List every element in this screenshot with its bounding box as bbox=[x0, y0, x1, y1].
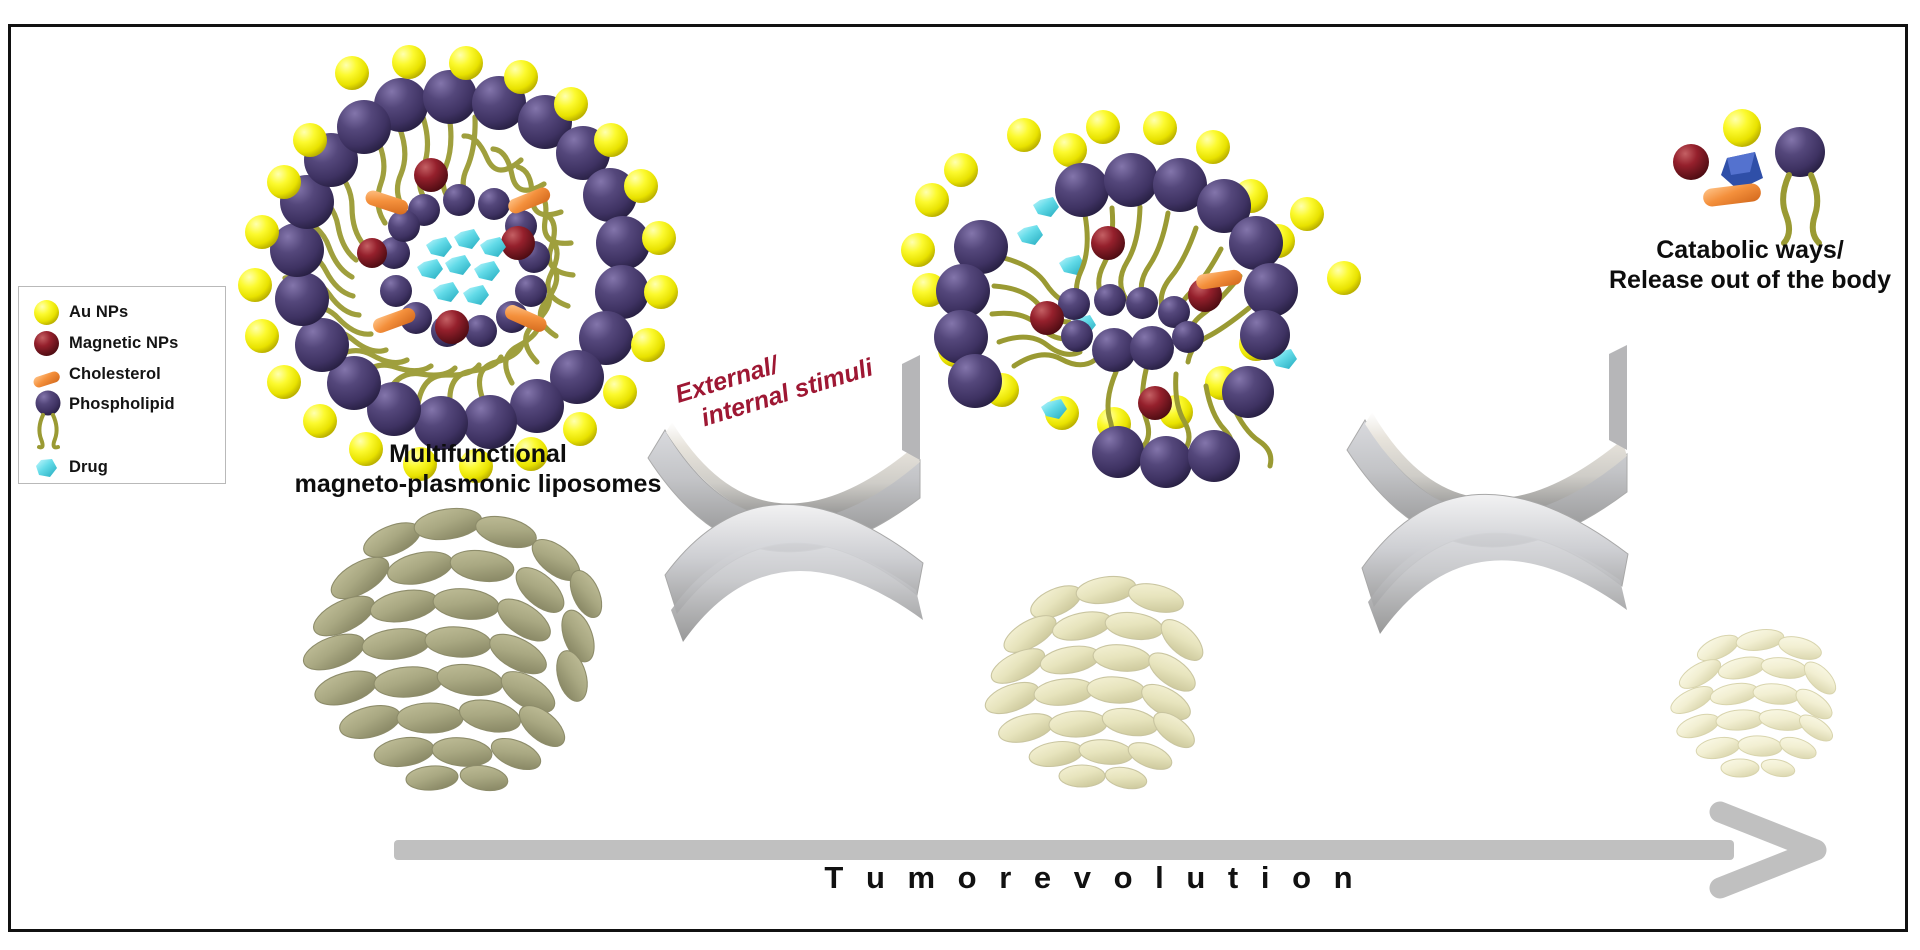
legend-item-phospholipid: Phospholipid bbox=[19, 390, 225, 452]
legend-item-drug: Drug bbox=[19, 452, 225, 482]
catabolic-caption: Catabolic ways/ Release out of the body bbox=[1560, 236, 1920, 295]
catabolic-caption-line2: Release out of the body bbox=[1560, 266, 1920, 296]
free-magnetic-np bbox=[1673, 144, 1709, 180]
legend-label-drug: Drug bbox=[69, 458, 108, 477]
free-gold-np bbox=[1723, 109, 1761, 147]
figure-root: Au NPs Magnetic NPs Cholesterol bbox=[0, 0, 1920, 950]
legend-item-magnetic-nps: Magnetic NPs bbox=[19, 328, 225, 359]
legend-item-au-nps: Au NPs bbox=[19, 297, 225, 328]
liposome-caption-line1: Multifunctional bbox=[248, 440, 708, 470]
magnetic-np bbox=[1030, 301, 1064, 335]
legend-item-cholesterol: Cholesterol bbox=[19, 359, 225, 390]
magnetic-np bbox=[1091, 226, 1125, 260]
orange-rod-icon bbox=[33, 361, 60, 388]
liposome-caption-line2: magneto-plasmonic liposomes bbox=[248, 470, 708, 500]
legend-label-magnetic-nps: Magnetic NPs bbox=[69, 334, 178, 353]
cyan-crystal-icon bbox=[33, 454, 60, 481]
yellow-sphere-icon bbox=[33, 299, 60, 326]
tumor-evolution-label: T u m o r e v o l u t i o n bbox=[392, 860, 1792, 896]
magnetic-np bbox=[1138, 386, 1172, 420]
legend-label-au-nps: Au NPs bbox=[69, 303, 128, 322]
dark-red-sphere-icon bbox=[33, 330, 60, 357]
components-legend: Au NPs Magnetic NPs Cholesterol bbox=[18, 286, 226, 484]
legend-label-cholesterol: Cholesterol bbox=[69, 365, 161, 384]
liposome-caption: Multifunctional magneto-plasmonic liposo… bbox=[248, 440, 708, 499]
catabolic-caption-line1: Catabolic ways/ bbox=[1560, 236, 1920, 266]
legend-label-phospholipid: Phospholipid bbox=[69, 395, 175, 414]
purple-head-two-tails-icon bbox=[33, 390, 60, 448]
